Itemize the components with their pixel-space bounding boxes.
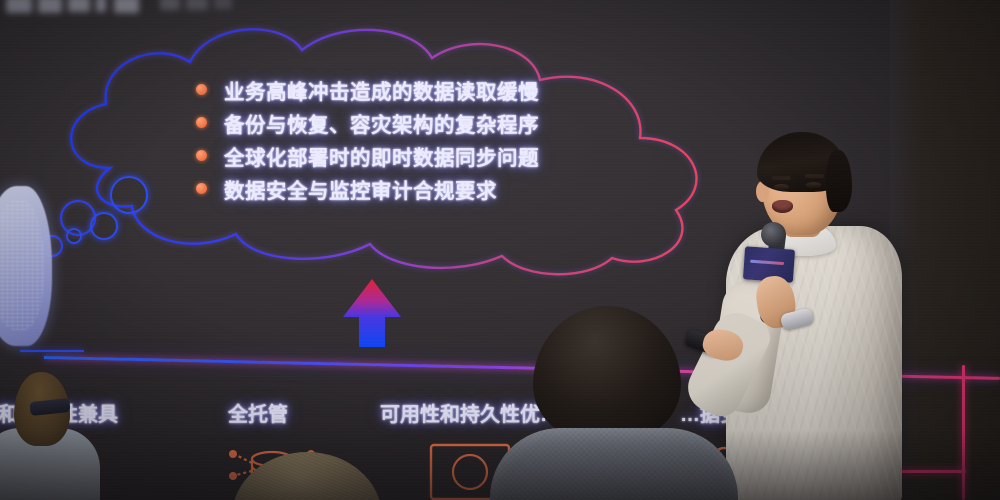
presentation-photo: 业务高峰冲击造成的数据读取缓慢 备份与恢复、容灾架构的复杂程序 全球化部署时的即…: [0, 0, 1000, 500]
projector-scanlines: [0, 0, 1000, 500]
